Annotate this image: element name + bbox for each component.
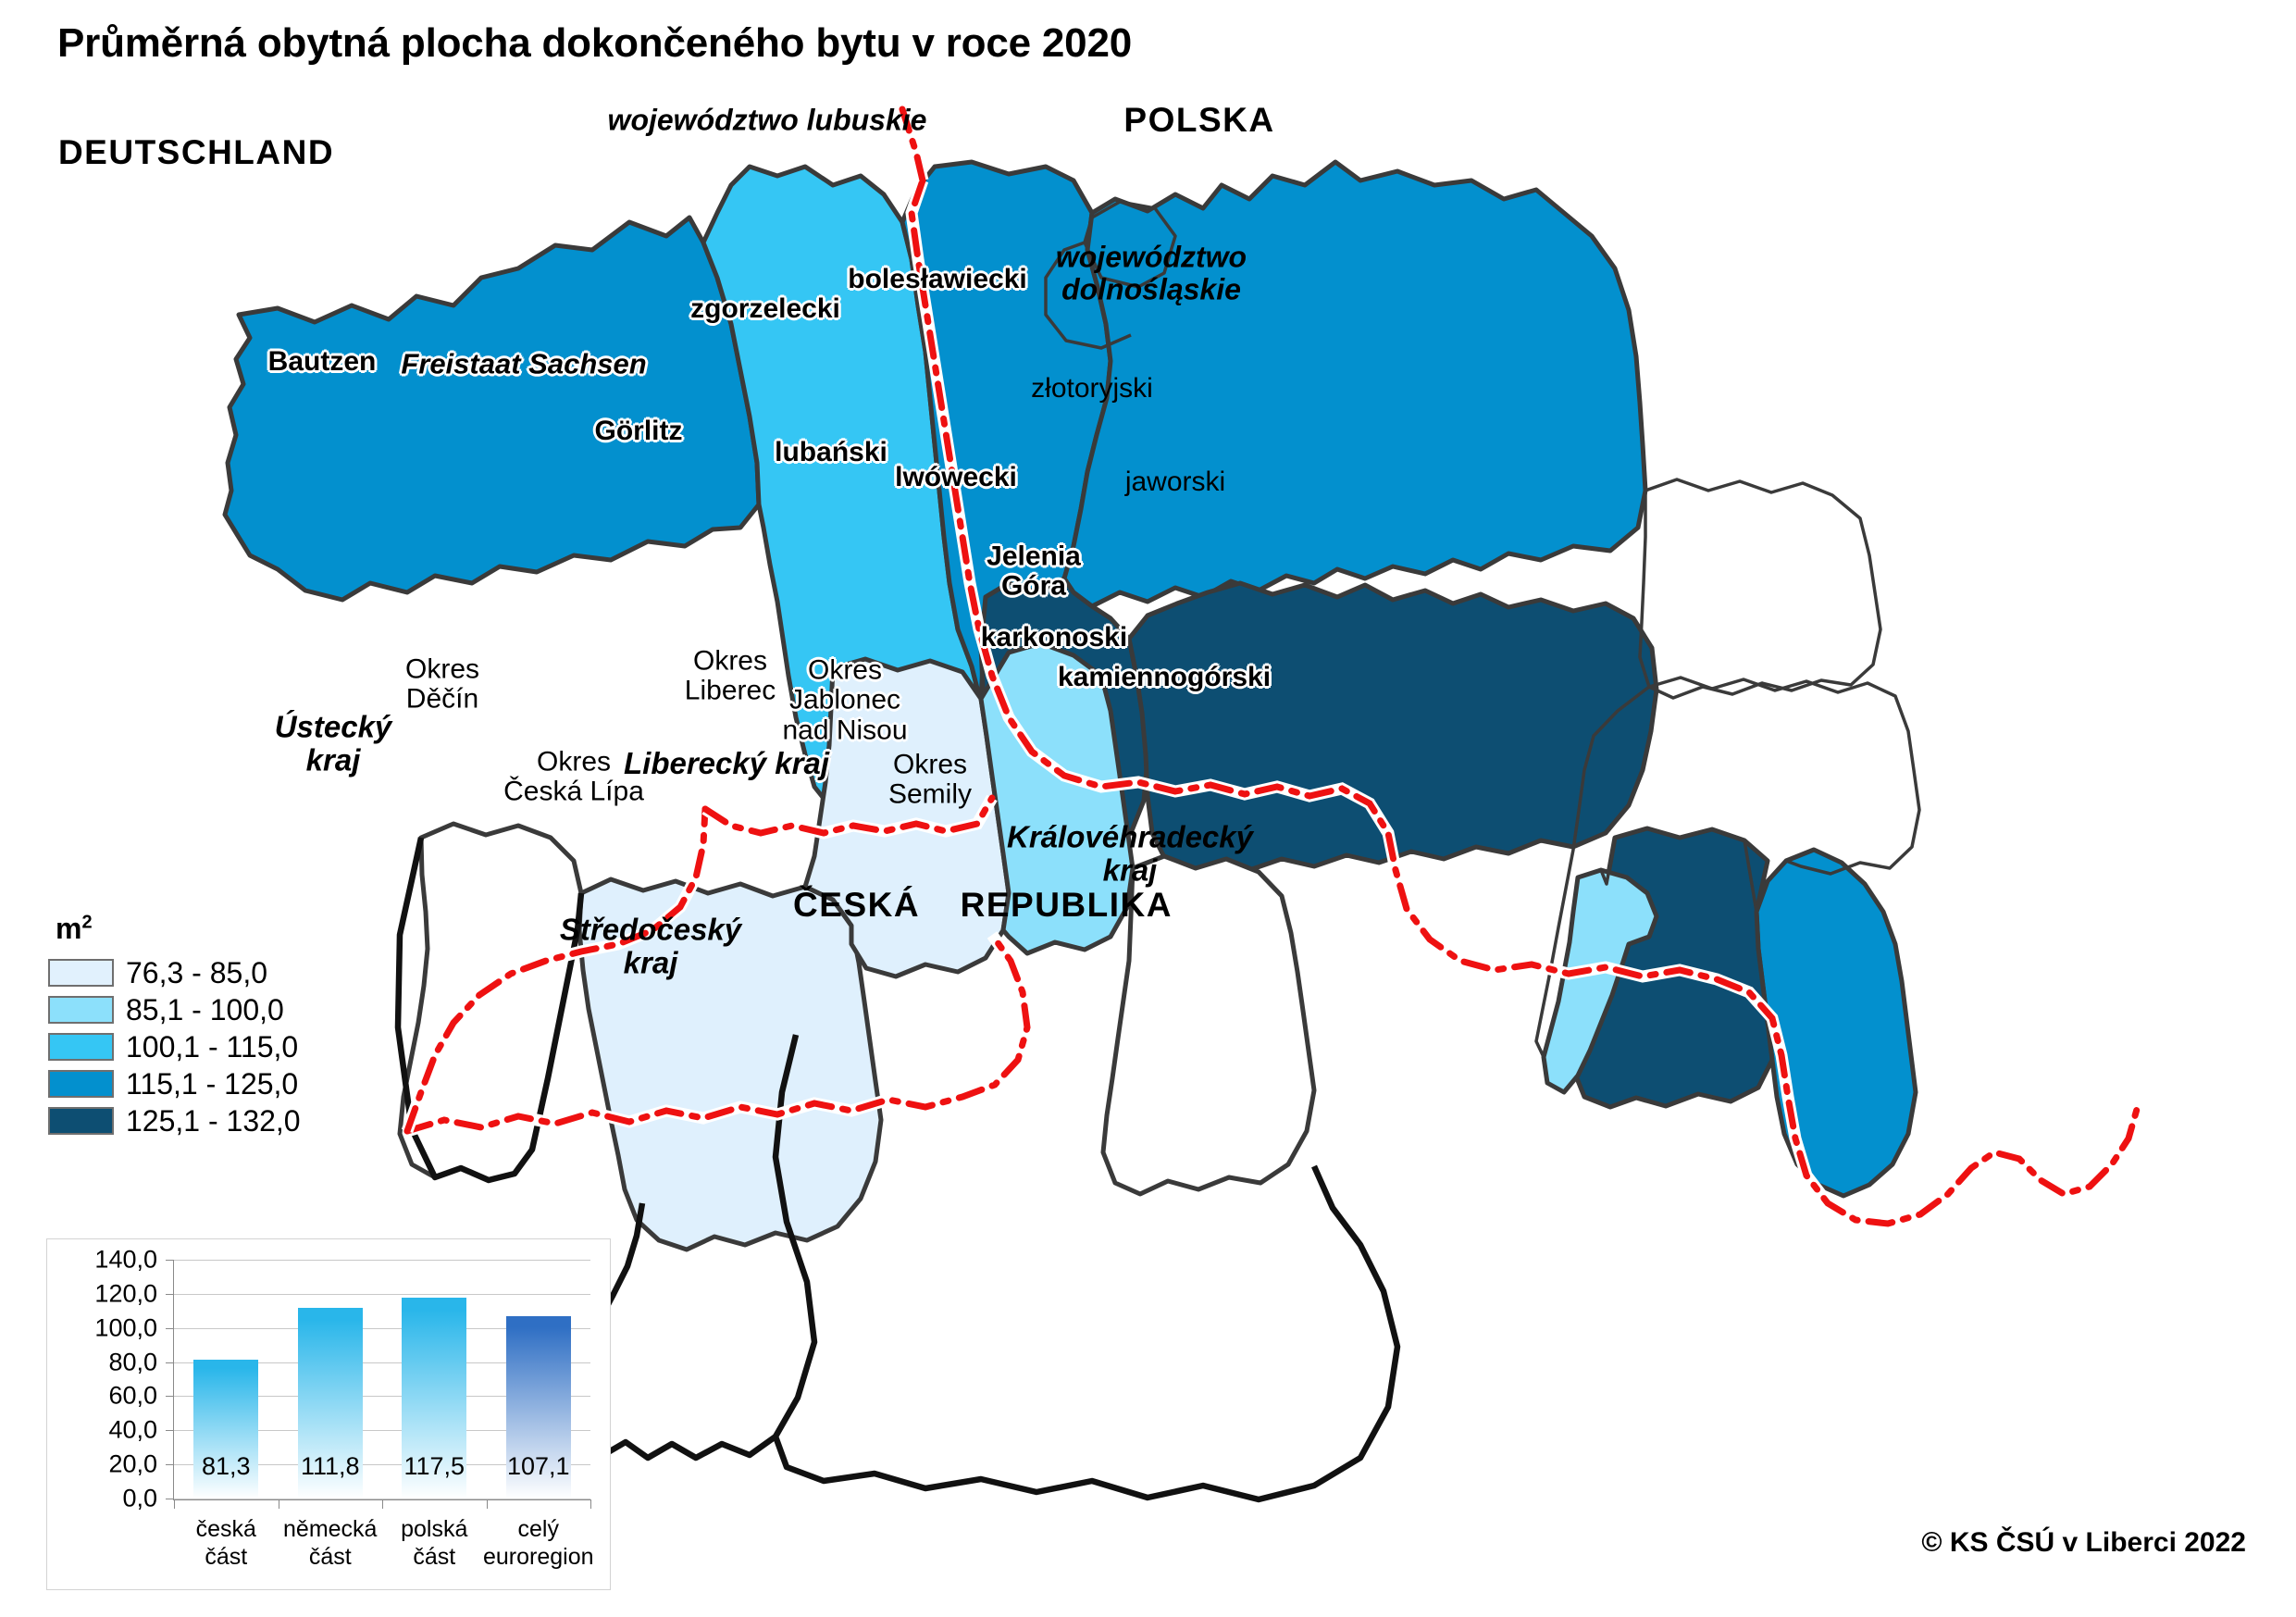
chart-y-tick-label: 120,0: [94, 1279, 157, 1308]
chart-x-tick-mark: [174, 1499, 175, 1509]
legend-item: 85,1 - 100,0: [48, 992, 301, 1027]
chart-y-tick-label: 0,0: [122, 1485, 157, 1513]
legend-label-3: 100,1 - 115,0: [126, 1030, 298, 1064]
legend-item: 125,1 - 132,0: [48, 1103, 301, 1138]
chart-y-tick-mark: [166, 1396, 174, 1397]
chart-y-tick-label: 40,0: [108, 1416, 157, 1445]
chart-x-category-label: celý euroregion: [483, 1515, 594, 1571]
legend: m2 76,3 - 85,0 85,1 - 100,0 100,1 - 115,…: [48, 912, 301, 1140]
legend-unit-text: m: [56, 912, 81, 945]
chart-x-category-label: německá část: [283, 1515, 377, 1571]
inset-bar-chart: 140,0120,0100,080,060,040,020,00,0 81,3č…: [46, 1238, 611, 1590]
chart-y-tick-mark: [166, 1430, 174, 1431]
chart-bar-value-label: 81,3: [202, 1452, 251, 1481]
legend-label-1: 76,3 - 85,0: [126, 956, 267, 990]
chart-x-category-label: polská část: [401, 1515, 467, 1571]
chart-bar-value-label: 117,5: [403, 1452, 465, 1481]
region-okres-ceska-lipa: [579, 879, 881, 1250]
chart-y-tick-label: 80,0: [108, 1348, 157, 1376]
legend-unit-title: m2: [56, 912, 301, 946]
chart-bar-value-label: 107,1: [507, 1452, 570, 1481]
chart-y-tick-label: 20,0: [108, 1450, 157, 1479]
chart-x-tick-mark: [487, 1499, 488, 1509]
chart-y-tick-mark: [166, 1362, 174, 1363]
chart-y-tick-mark: [166, 1499, 174, 1499]
region-boleslawiecki: [1064, 162, 1645, 606]
legend-item: 115,1 - 125,0: [48, 1066, 301, 1101]
legend-unit-exponent: 2: [81, 912, 92, 932]
chart-y-tick-mark: [166, 1464, 174, 1465]
legend-swatch-2: [48, 996, 114, 1024]
copyright-notice: © KS ČSÚ v Liberci 2022: [1921, 1527, 2246, 1559]
chart-x-tick-mark: [382, 1499, 383, 1509]
legend-label-2: 85,1 - 100,0: [126, 993, 284, 1027]
chart-x-category-label: česká část: [196, 1515, 256, 1571]
chart-x-tick-mark: [279, 1499, 279, 1509]
legend-item: 100,1 - 115,0: [48, 1029, 301, 1064]
chart-y-tick-mark: [166, 1328, 174, 1329]
legend-label-5: 125,1 - 132,0: [126, 1104, 301, 1138]
chart-y-tick-label: 100,0: [94, 1313, 157, 1342]
legend-item: 76,3 - 85,0: [48, 955, 301, 990]
legend-label-4: 115,1 - 125,0: [126, 1067, 298, 1101]
region-okres-semily: [1103, 856, 1314, 1194]
chart-x-tick-mark: [590, 1499, 591, 1509]
region-kamiennogorski: [1756, 850, 1916, 1196]
legend-swatch-1: [48, 959, 114, 987]
chart-y-tick-mark: [166, 1260, 174, 1261]
chart-bar-value-label: 111,8: [301, 1452, 360, 1481]
chart-y-tick-label: 140,0: [94, 1246, 157, 1275]
legend-swatch-4: [48, 1070, 114, 1098]
region-bautzen: [225, 218, 759, 600]
chart-y-tick-mark: [166, 1294, 174, 1295]
legend-swatch-5: [48, 1107, 114, 1135]
region-zlotoryjski: [1640, 479, 1880, 698]
legend-swatch-3: [48, 1033, 114, 1061]
chart-y-tick-label: 60,0: [108, 1382, 157, 1411]
